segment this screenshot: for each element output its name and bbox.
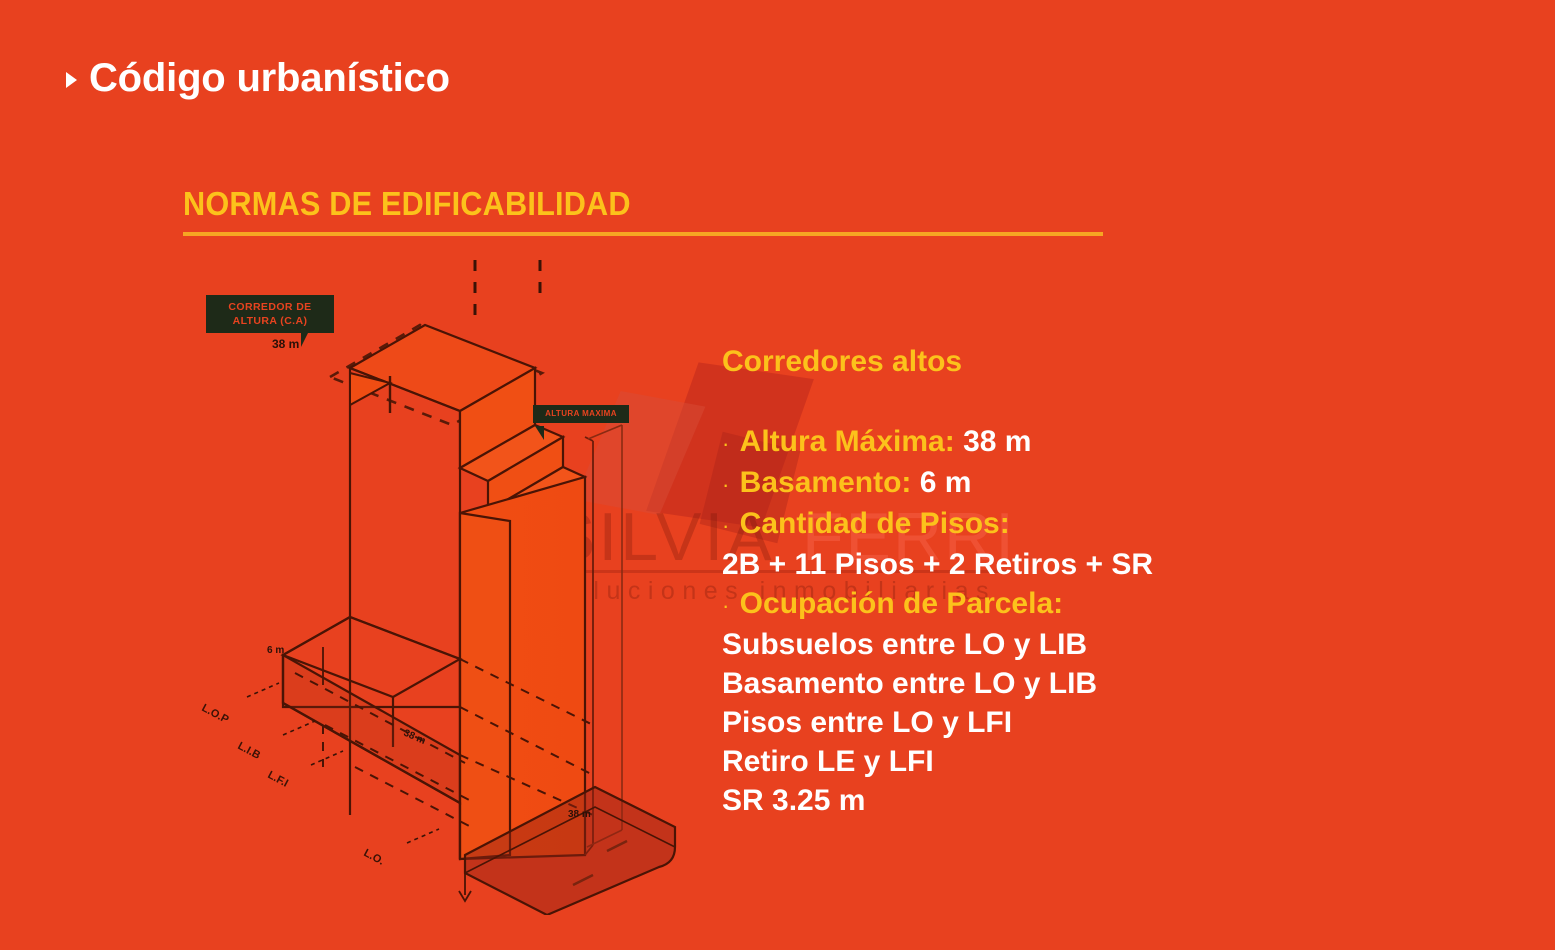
- callout-altura-maxima-text: ALTURA MAXIMA: [545, 409, 617, 418]
- info-ocupacion-line: SR 3.25 m: [722, 781, 1282, 820]
- bullet-dot: ·: [722, 593, 729, 618]
- axis-label-lo: L.O.: [362, 847, 387, 868]
- building-diagram-svg: L.O.P L.I.B L.F.I L.O. 6 m 38 m 38 m: [175, 255, 705, 915]
- section-divider: [183, 232, 1103, 236]
- tower-side-face: [460, 513, 510, 859]
- callout-corredor-de-altura: CORREDOR DE ALTURA (C.A): [206, 295, 334, 333]
- callout-altura-maxima-tail: [535, 426, 544, 440]
- info-item-cantidad-pisos: · Cantidad de Pisos:: [722, 504, 1282, 545]
- info-item-label: Cantidad de Pisos:: [740, 507, 1010, 540]
- axis-label-lib: L.I.B: [236, 740, 263, 762]
- info-item-label: Basamento:: [740, 466, 912, 499]
- section-header: NORMAS DE EDIFICABILIDAD: [183, 186, 1103, 236]
- info-item-basamento: · Basamento: 6 m: [722, 463, 1282, 504]
- triangle-right-icon: [66, 72, 77, 88]
- info-ocupacion-line: Pisos entre LO y LFI: [722, 703, 1282, 742]
- info-item-altura-maxima: · Altura Máxima: 38 m: [722, 422, 1282, 463]
- page-title-text: Código urbanístico: [89, 58, 450, 98]
- info-item-ocupacion-parcela: · Ocupación de Parcela:: [722, 584, 1282, 625]
- info-ocupacion-line: Retiro LE y LFI: [722, 742, 1282, 781]
- dim-basamento-text: 6 m: [267, 645, 284, 656]
- slide-canvas: SILVIA FERRI soluciones inmobiliarias Có…: [0, 0, 1555, 950]
- dim-altura-text: 38 m: [568, 809, 591, 820]
- callout-corredor-line1: CORREDOR DE: [214, 300, 326, 314]
- section-title-text: NORMAS DE EDIFICABILIDAD: [183, 186, 1039, 222]
- callout-corredor-line2: ALTURA (C.A): [214, 314, 326, 328]
- altura-dim-leader-top: [588, 425, 622, 439]
- info-item-value: 6 m: [920, 466, 972, 499]
- info-pisos-detail: 2B + 11 Pisos + 2 Retiros + SR: [722, 545, 1282, 584]
- callout-corredor-dimension: 38 m: [272, 337, 299, 351]
- axis-label-lfi: L.F.I: [266, 769, 291, 790]
- info-ocupacion-line: Subsuelos entre LO y LIB: [722, 625, 1282, 664]
- info-item-label: Altura Máxima:: [740, 425, 955, 458]
- bullet-dot: ·: [722, 472, 729, 497]
- callout-corredor-tail: [301, 331, 309, 347]
- info-ocupacion-line: Basamento entre LO y LIB: [722, 664, 1282, 703]
- info-item-label: Ocupación de Parcela:: [740, 587, 1063, 620]
- axis-label-lop: L.O.P: [200, 702, 231, 726]
- bullet-dot: ·: [722, 513, 729, 538]
- callout-altura-maxima: ALTURA MAXIMA: [533, 405, 629, 423]
- info-heading: Corredores altos: [722, 345, 1282, 378]
- building-diagram: L.O.P L.I.B L.F.I L.O. 6 m 38 m 38 m COR…: [175, 255, 705, 915]
- page-title: Código urbanístico: [66, 58, 450, 98]
- guide-lines: [475, 260, 540, 321]
- info-panel: Corredores altos · Altura Máxima: 38 m ·…: [722, 345, 1282, 820]
- bullet-dot: ·: [722, 431, 729, 456]
- info-item-value: 38 m: [963, 425, 1031, 458]
